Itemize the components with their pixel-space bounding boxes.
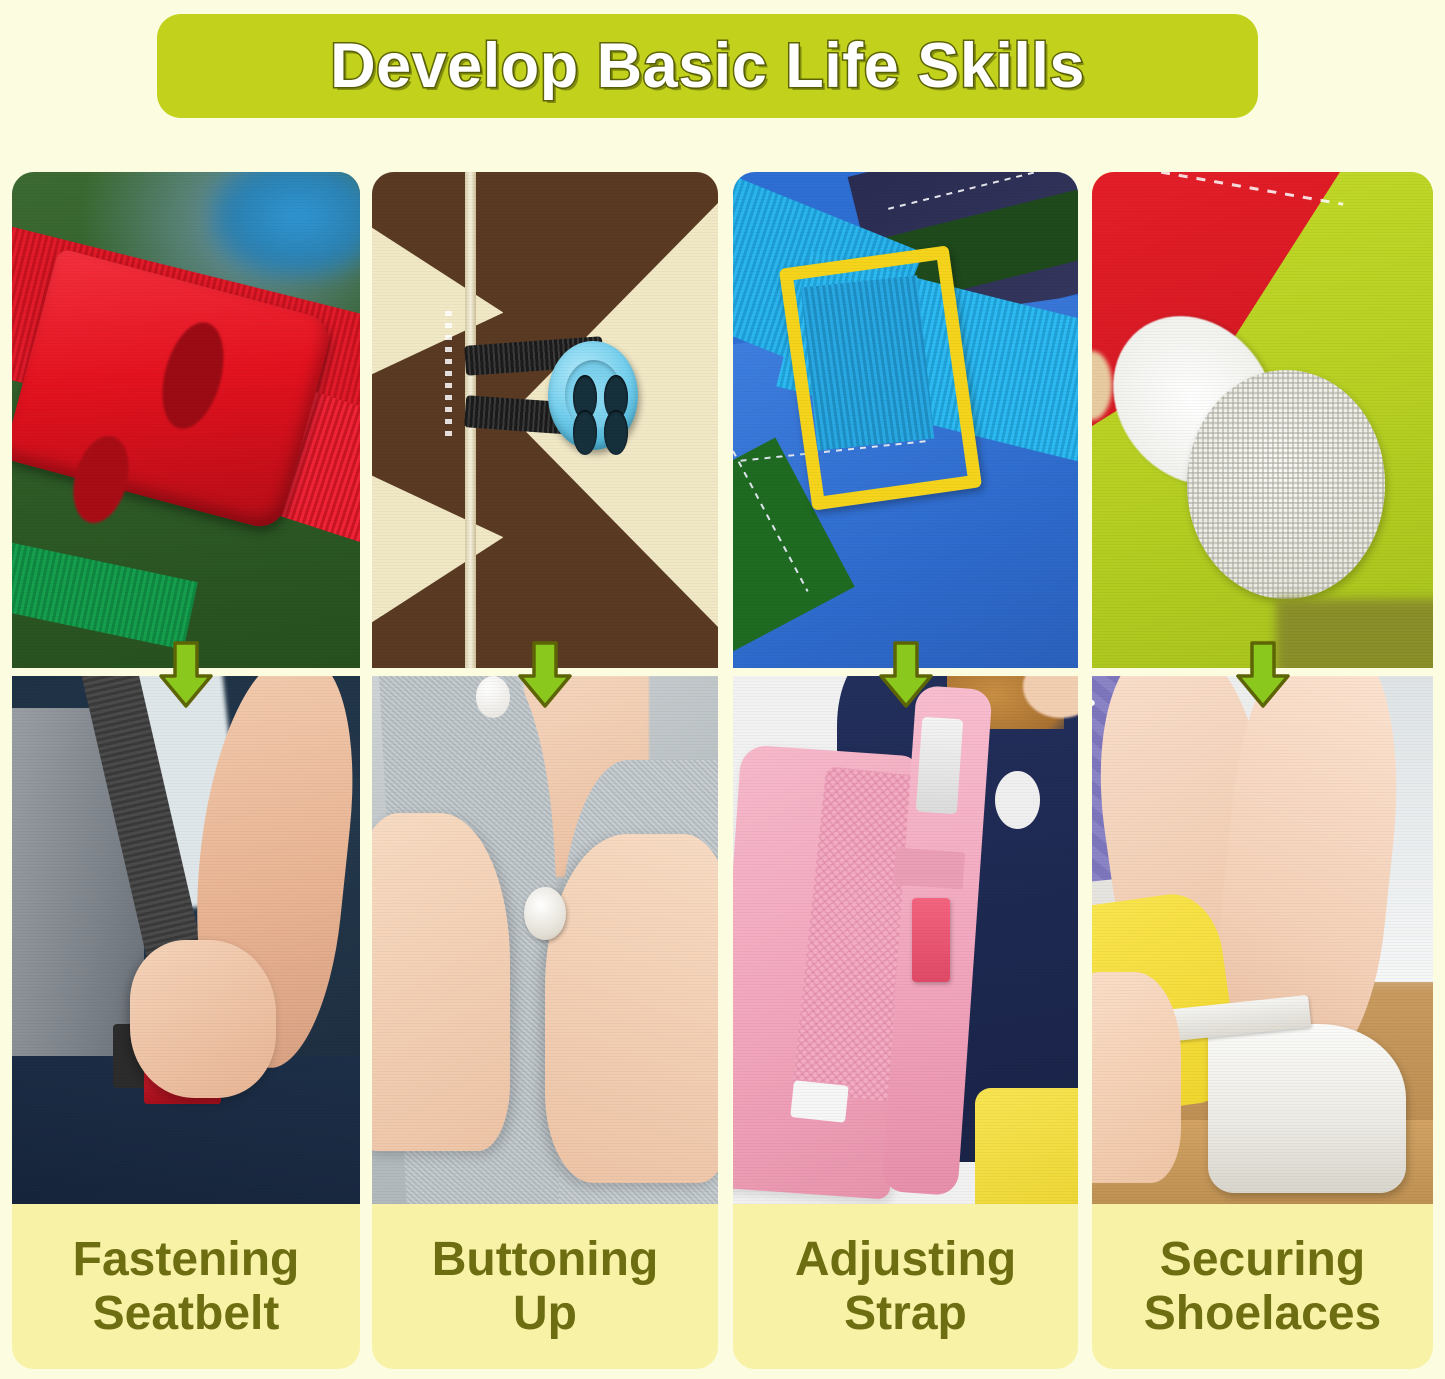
skill-column-adjusting-strap: Adjusting Strap bbox=[733, 172, 1078, 1369]
caption-line-2: Strap bbox=[844, 1287, 967, 1341]
caption-fastening-seatbelt: Fastening Seatbelt bbox=[12, 1204, 360, 1369]
caption-line-2: Up bbox=[513, 1287, 577, 1341]
skills-grid: Fastening Seatbelt bbox=[0, 172, 1445, 1379]
child-fastening-car-seatbelt-photo bbox=[12, 676, 360, 1204]
down-arrow-icon bbox=[157, 640, 215, 710]
child-wearing-pink-backpack-photo bbox=[733, 676, 1078, 1204]
busy-board-yellow-slider-photo bbox=[733, 172, 1078, 668]
skill-column-securing-shoelaces: Securing Shoelaces bbox=[1092, 172, 1433, 1369]
caption-line-2: Shoelaces bbox=[1144, 1287, 1381, 1341]
skill-column-buttoning-up: Buttoning Up bbox=[372, 172, 718, 1369]
caption-line-1: Adjusting bbox=[795, 1233, 1016, 1287]
child-fastening-shoe-strap-photo bbox=[1092, 676, 1433, 1204]
child-buttoning-cardigan-photo bbox=[372, 676, 718, 1204]
busy-board-velcro-patch-photo bbox=[1092, 172, 1433, 668]
skill-column-fastening-seatbelt: Fastening Seatbelt bbox=[12, 172, 360, 1369]
page-title: Develop Basic Life Skills bbox=[330, 35, 1085, 98]
down-arrow-icon bbox=[877, 640, 935, 710]
down-arrow-icon bbox=[516, 640, 574, 710]
caption-securing-shoelaces: Securing Shoelaces bbox=[1092, 1204, 1433, 1369]
caption-line-1: Fastening bbox=[73, 1233, 300, 1287]
caption-line-1: Securing bbox=[1160, 1233, 1365, 1287]
caption-line-2: Seatbelt bbox=[93, 1287, 280, 1341]
title-banner: Develop Basic Life Skills bbox=[157, 14, 1258, 118]
caption-adjusting-strap: Adjusting Strap bbox=[733, 1204, 1078, 1369]
busy-board-red-buckle-photo bbox=[12, 172, 360, 668]
down-arrow-icon bbox=[1234, 640, 1292, 710]
caption-line-1: Buttoning bbox=[432, 1233, 659, 1287]
caption-buttoning-up: Buttoning Up bbox=[372, 1204, 718, 1369]
busy-board-blue-button-photo bbox=[372, 172, 718, 668]
